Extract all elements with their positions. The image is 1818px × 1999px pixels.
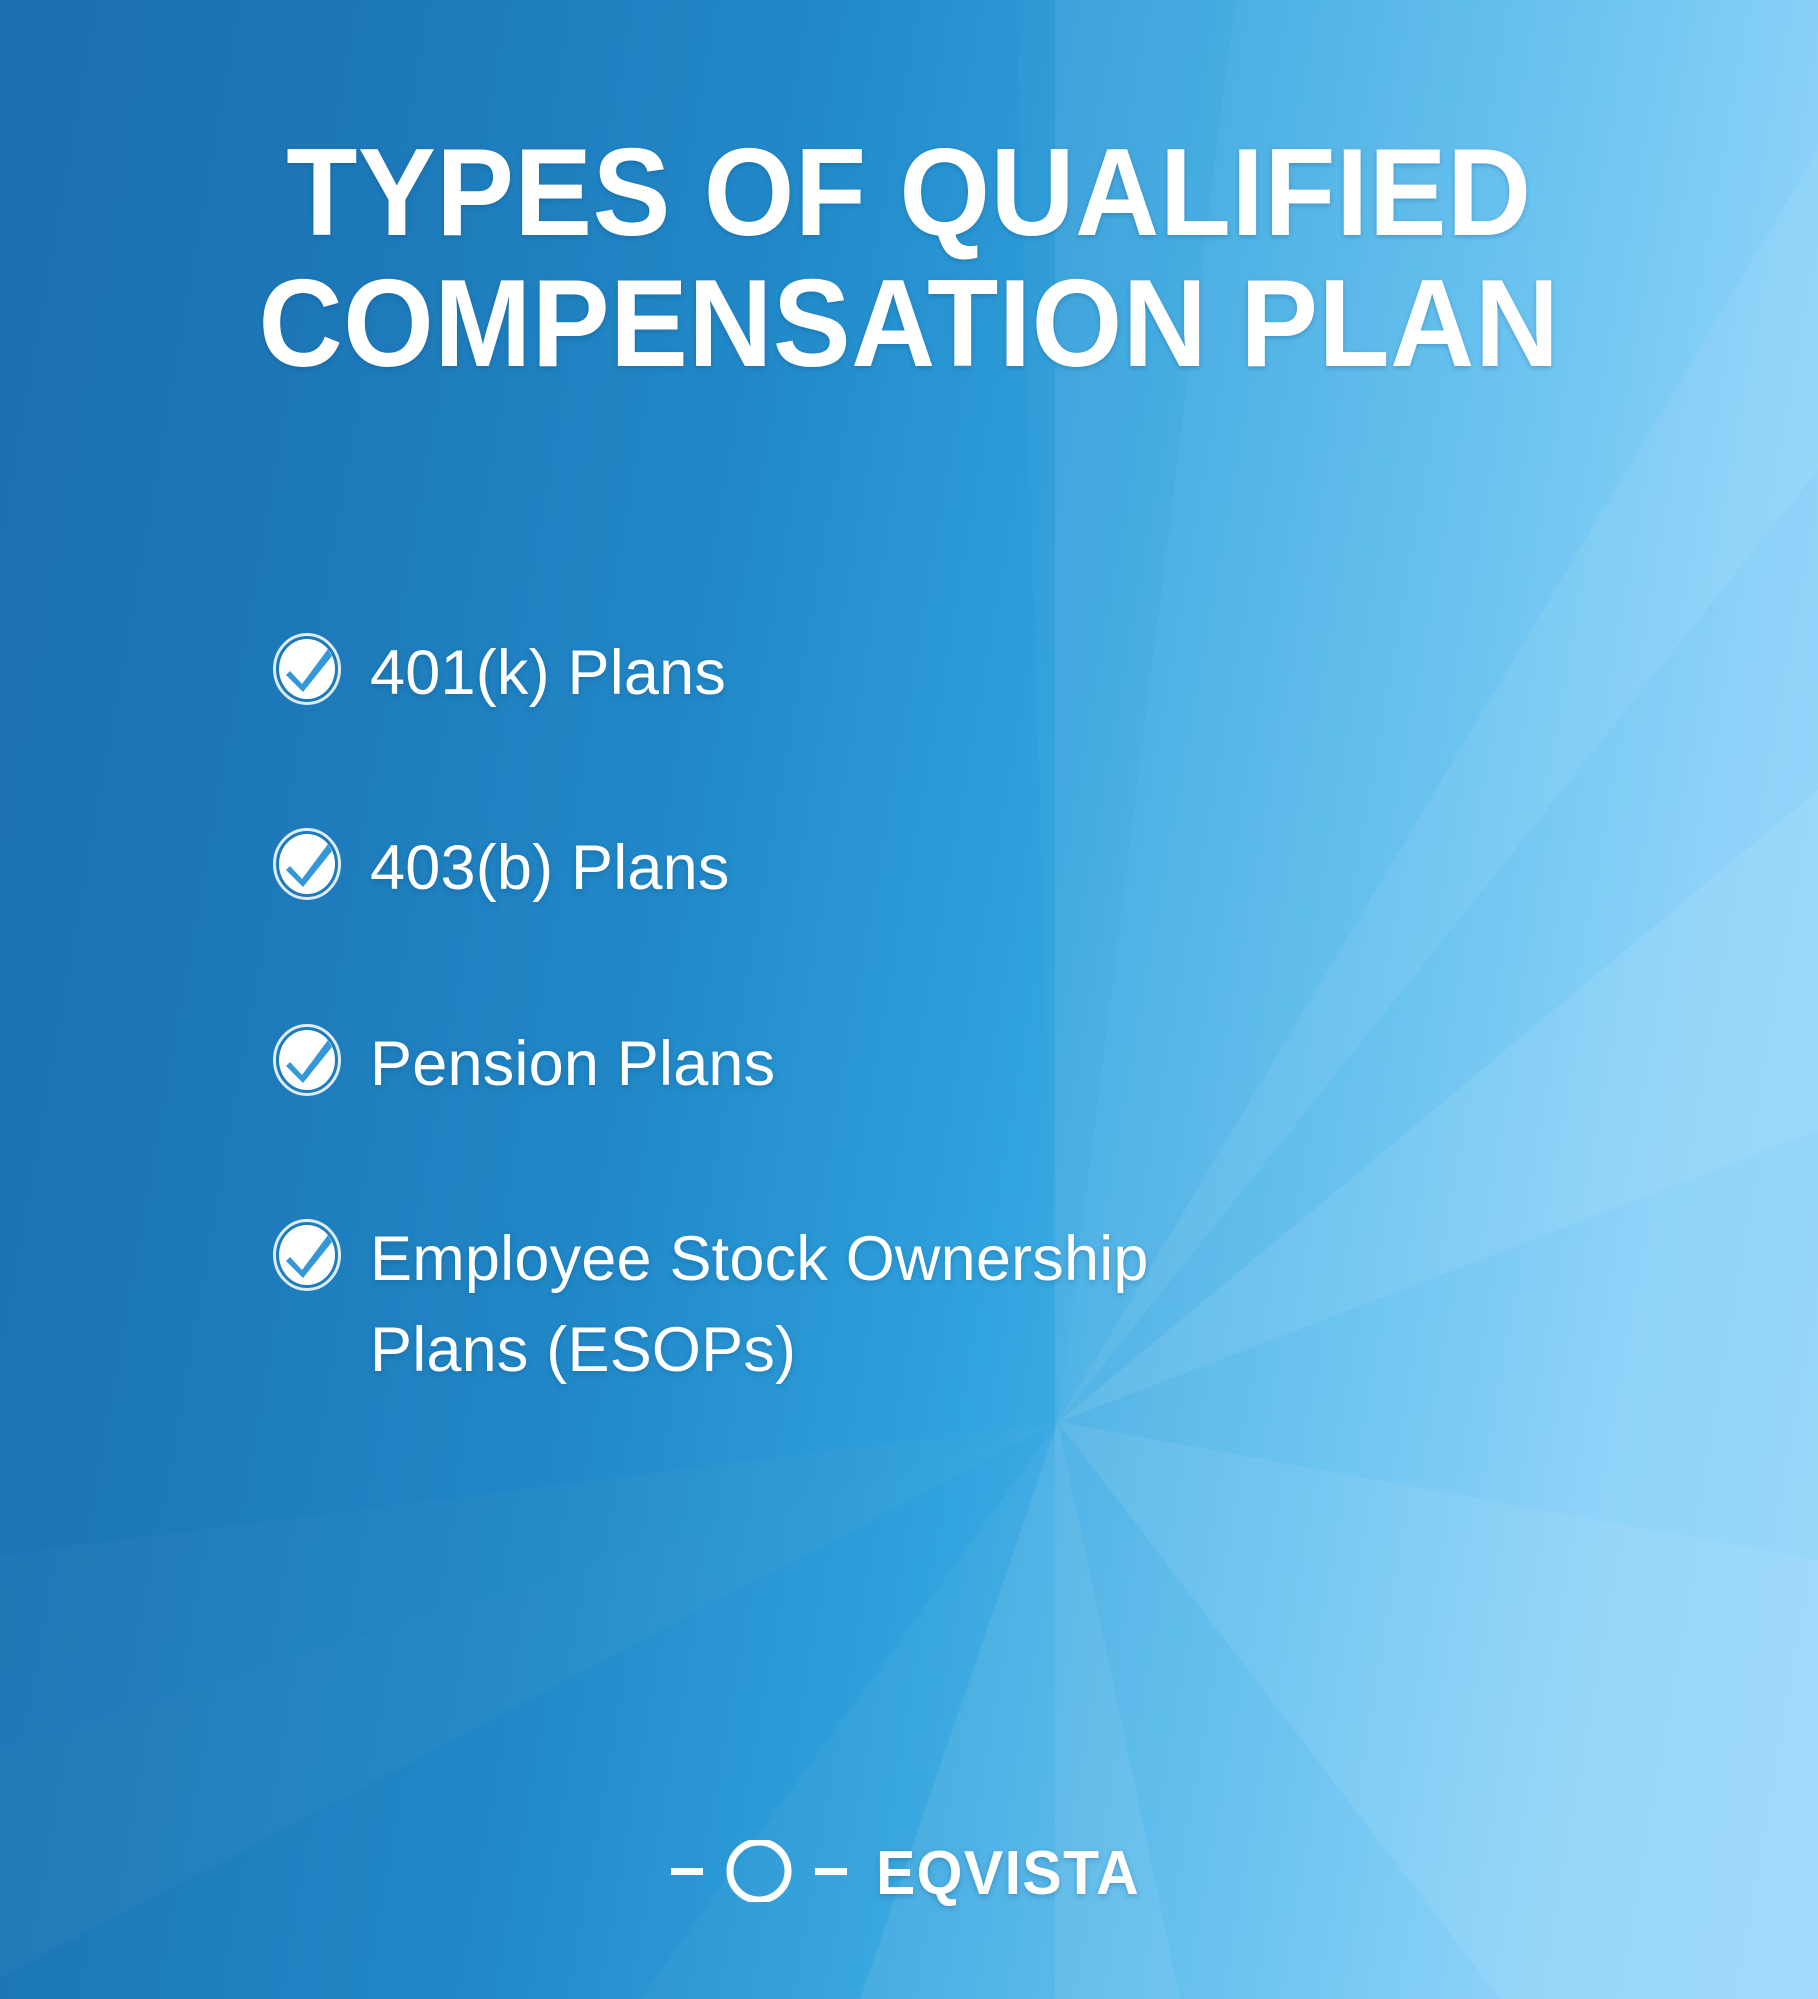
title-line-2: COMPENSATION PLAN [120, 259, 1697, 390]
check-circle-icon [272, 1023, 342, 1097]
check-circle-icon [272, 827, 342, 901]
brand-name: EQVISTA [876, 1838, 1140, 1909]
list-item-label: Employee Stock Ownership Plans (ESOPs) [370, 1214, 1290, 1397]
list-item-label: Pension Plans [370, 1019, 775, 1110]
dash-circle-dash-icon [671, 1840, 847, 1907]
list-item: Pension Plans [272, 1019, 1472, 1110]
list-item: Employee Stock Ownership Plans (ESOPs) [272, 1214, 1472, 1397]
list-item-label: 403(b) Plans [370, 823, 730, 914]
check-circle-icon [272, 1218, 342, 1292]
infographic-poster: TYPES OF QUALIFIED COMPENSATION PLAN 401… [0, 0, 1818, 1999]
list-item: 401(k) Plans [272, 628, 1472, 719]
list-item-label: 401(k) Plans [370, 628, 726, 719]
brand-logo: EQVISTA [0, 1838, 1818, 1909]
page-title: TYPES OF QUALIFIED COMPENSATION PLAN [0, 128, 1818, 391]
checklist: 401(k) Plans 403(b) Plans Pension Pl [272, 628, 1472, 1397]
check-circle-icon [272, 632, 342, 706]
list-item: 403(b) Plans [272, 823, 1472, 914]
title-line-1: TYPES OF QUALIFIED [120, 128, 1697, 259]
